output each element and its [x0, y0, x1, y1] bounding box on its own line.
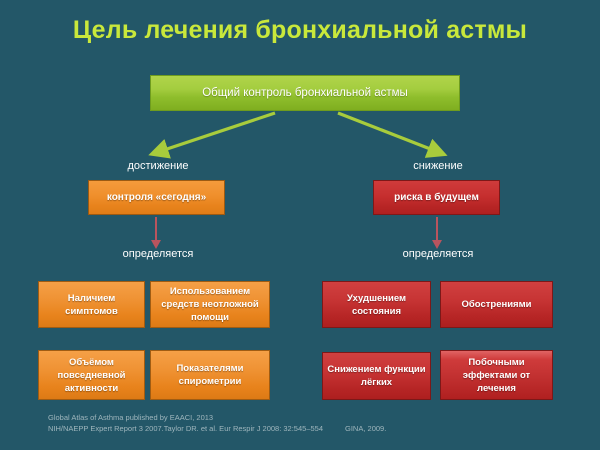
right-leaf-box: Побочными эффектами от лечения — [440, 350, 553, 400]
right-branch-box: риска в будущем — [373, 180, 500, 215]
left-leaf-label: Объёмом повседневной активности — [43, 356, 140, 395]
right-vertical-arrow — [436, 217, 438, 241]
right-leaf-label: Обострениями — [462, 298, 532, 311]
slide-canvas: Цель лечения бронхиальной астмы Общий ко… — [0, 0, 600, 450]
arrow-root-to-right — [338, 113, 438, 152]
left-branch-box: контроля «сегодня» — [88, 180, 225, 215]
left-leaf-box: Использованием средств неотложной помощи — [150, 281, 270, 328]
citation-line-1: Global Atlas of Asthma published by EAAC… — [48, 412, 588, 423]
root-node-box: Общий контроль бронхиальной астмы — [150, 75, 460, 111]
root-node-label: Общий контроль бронхиальной астмы — [202, 87, 408, 99]
right-leaf-label: Снижением функции лёгких — [327, 363, 426, 389]
left-branch-box-label: контроля «сегодня» — [107, 192, 206, 203]
left-leaf-box: Наличием симптомов — [38, 281, 145, 328]
right-leaf-box: Снижением функции лёгких — [322, 352, 431, 400]
right-leaf-label: Побочными эффектами от лечения — [445, 356, 548, 395]
right-branch-box-label: риска в будущем — [394, 192, 479, 203]
footer-citations: Global Atlas of Asthma published by EAAC… — [48, 412, 588, 434]
right-branch-caption: снижение — [348, 160, 528, 172]
left-branch-caption: достижение — [68, 160, 248, 172]
right-leaf-label: Ухудшением состояния — [327, 292, 426, 318]
right-leaf-box: Ухудшением состояния — [322, 281, 431, 328]
citation-line-2-main: NIH/NAEPP Expert Report 3 2007.Taylor DR… — [48, 424, 323, 433]
arrow-root-to-left — [158, 113, 275, 152]
right-leaf-box: Обострениями — [440, 281, 553, 328]
left-determined-by-label: определяется — [68, 248, 248, 260]
left-leaf-box: Показателями спирометрии — [150, 350, 270, 400]
citation-line-2-gina: GINA, 2009. — [345, 424, 386, 433]
right-determined-by-label: определяется — [348, 248, 528, 260]
left-leaf-label: Наличием симптомов — [43, 292, 140, 318]
left-leaf-box: Объёмом повседневной активности — [38, 350, 145, 400]
left-leaf-label: Использованием средств неотложной помощи — [155, 285, 265, 324]
page-title: Цель лечения бронхиальной астмы — [0, 16, 600, 45]
left-leaf-label: Показателями спирометрии — [155, 362, 265, 388]
citation-line-2: NIH/NAEPP Expert Report 3 2007.Taylor DR… — [48, 423, 588, 434]
left-vertical-arrow — [155, 217, 157, 241]
